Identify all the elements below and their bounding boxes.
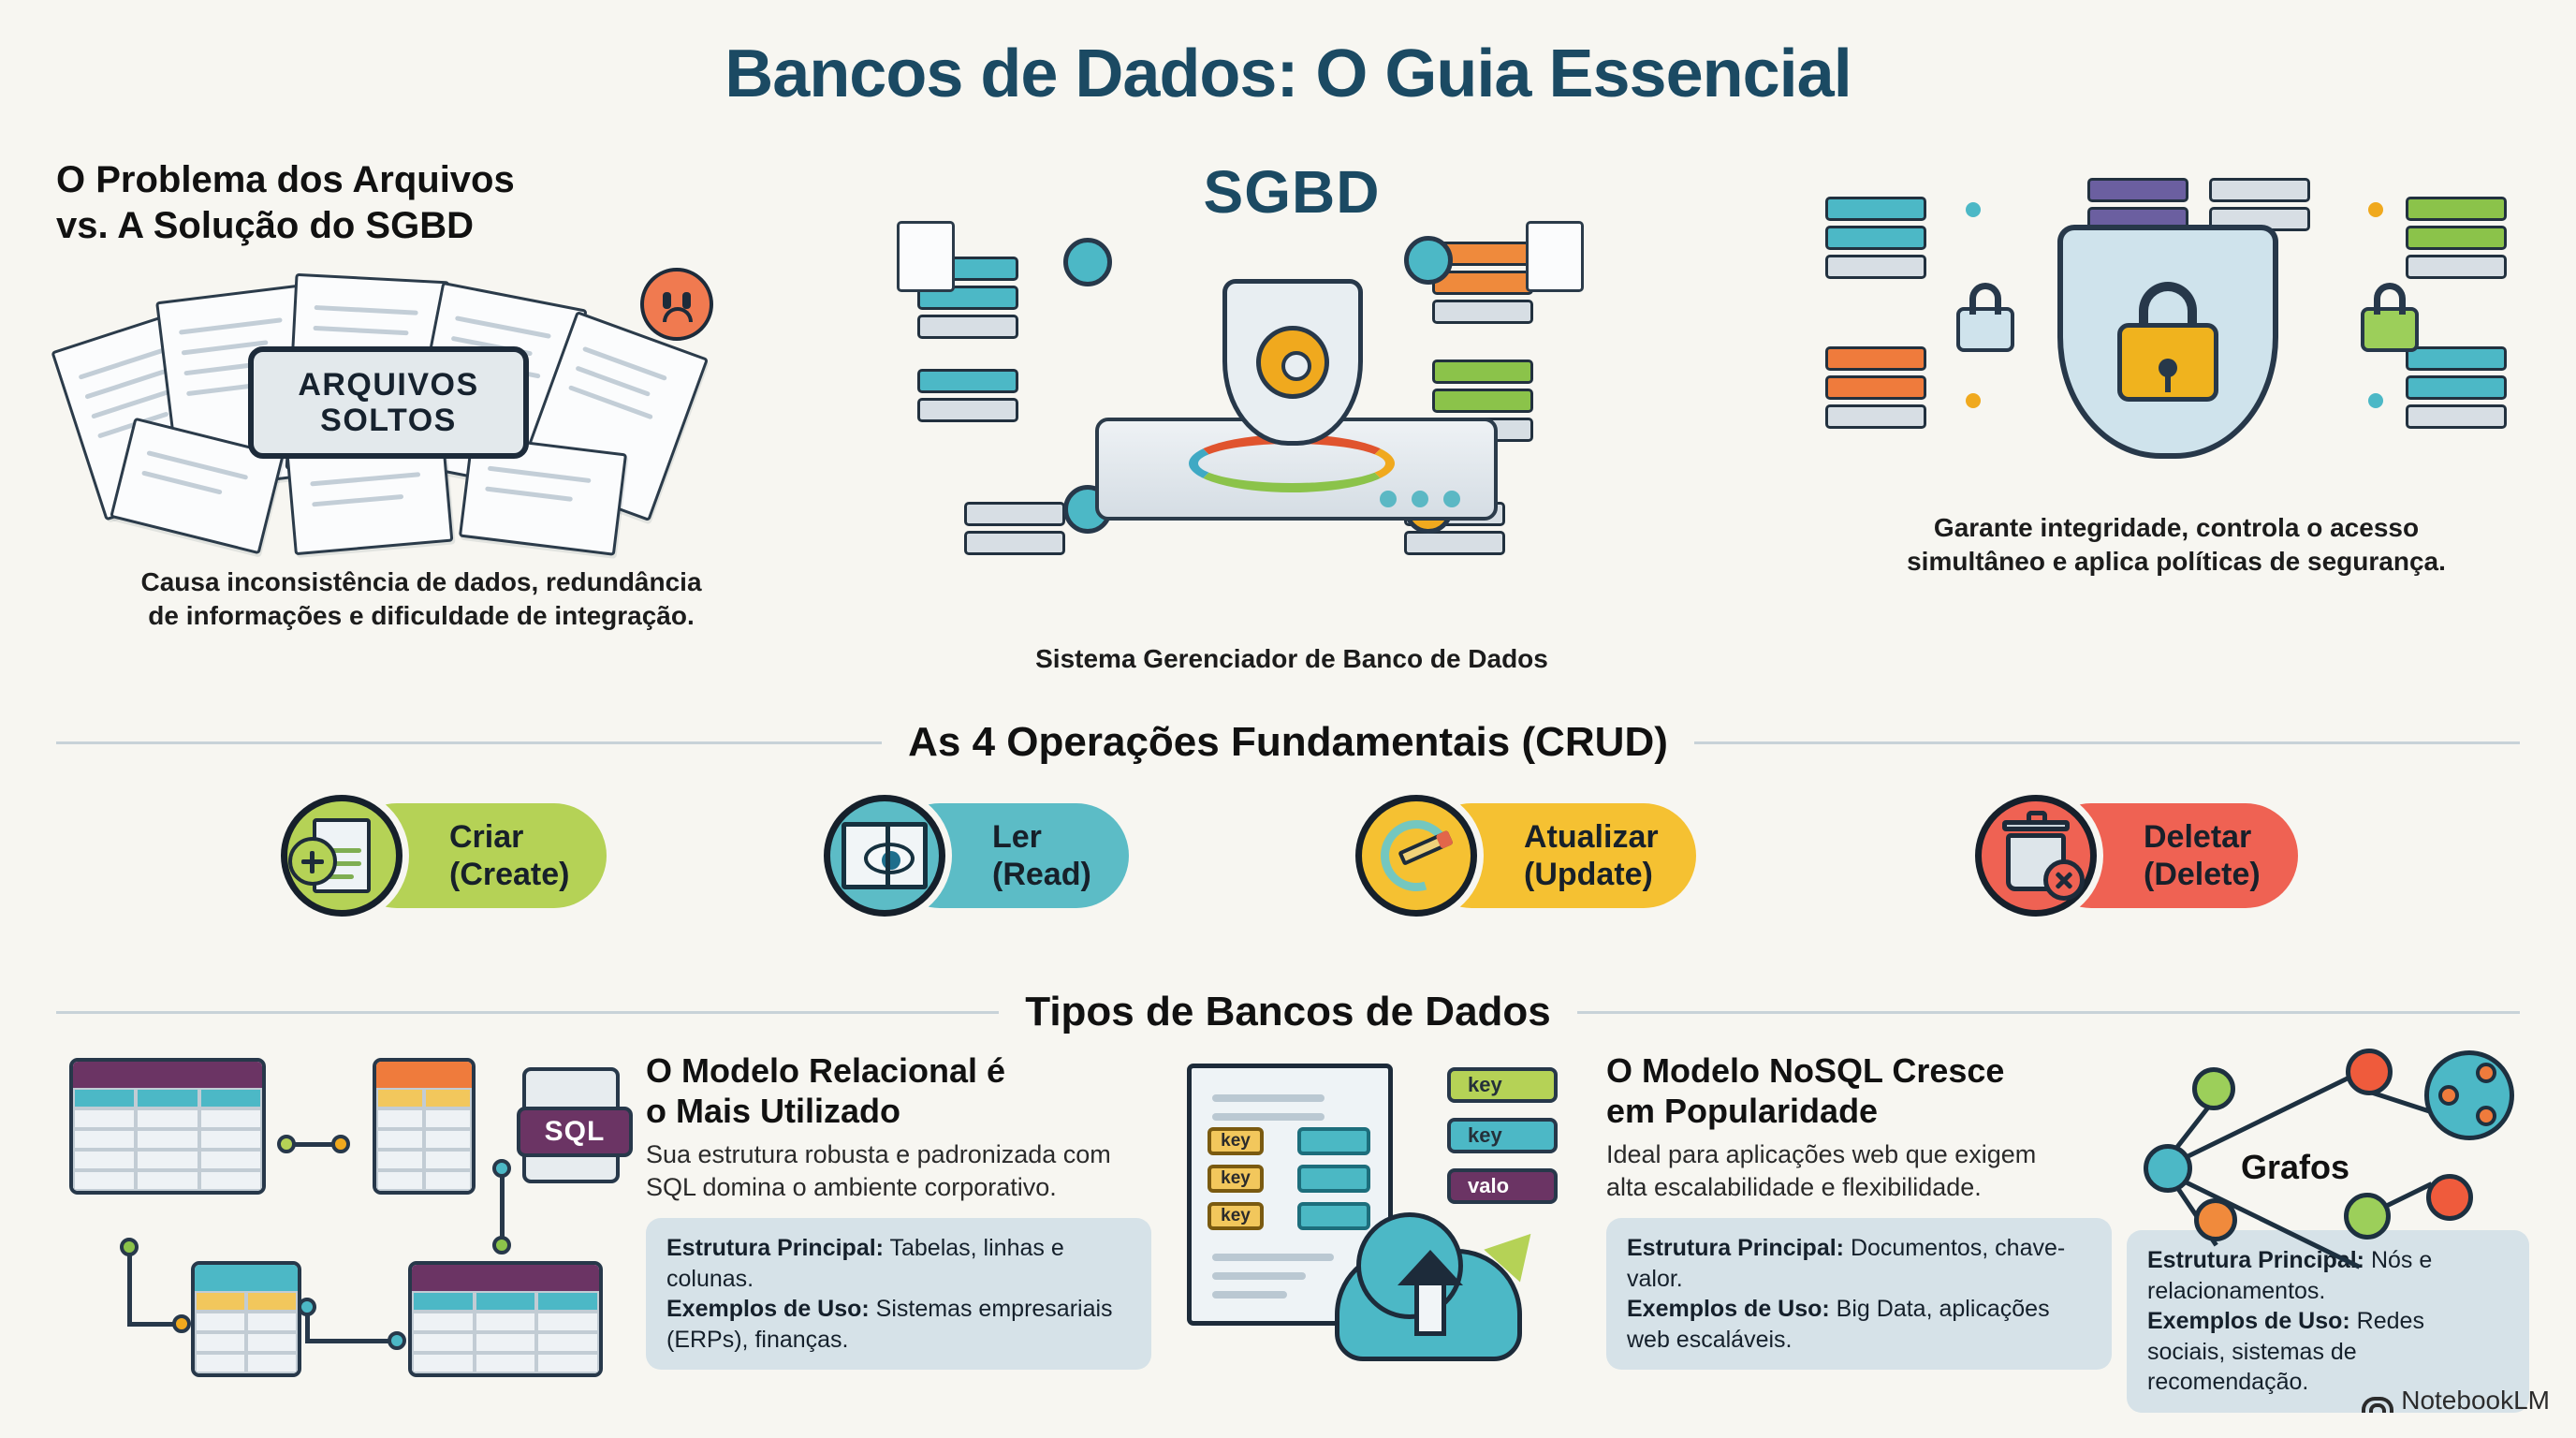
sql-badge: SQL bbox=[517, 1107, 633, 1157]
db-table bbox=[373, 1058, 476, 1195]
crud-item-create[interactable]: Criar (Create) bbox=[281, 785, 607, 927]
crud-label-en: (Delete) bbox=[2144, 857, 2261, 892]
server-stack bbox=[2406, 197, 2507, 284]
relational-subtext: Sua estrutura robusta e padronizada com … bbox=[646, 1138, 1151, 1203]
crud-label-pt: Criar bbox=[449, 819, 523, 855]
divider bbox=[56, 1011, 999, 1014]
crud-section-title: As 4 Operações Fundamentais (CRUD) bbox=[908, 719, 1668, 766]
nosql-illustration: key key key key key valo bbox=[1178, 1050, 1599, 1406]
nosql-structure: Estrutura Principal: Documentos, chave-v… bbox=[1627, 1233, 2091, 1294]
relation-dot bbox=[492, 1236, 511, 1255]
infographic-page: Bancos de Dados: O Guia Essencial O Prob… bbox=[0, 0, 2576, 1438]
watermark-label: NotebookLM bbox=[2401, 1386, 2550, 1416]
server-stack bbox=[964, 502, 1065, 560]
graph-node-orange bbox=[2194, 1198, 2237, 1241]
refresh-pencil-icon bbox=[1368, 808, 1465, 904]
relational-examples: Exemplos de Uso: Sistemas empresariais (… bbox=[666, 1294, 1131, 1355]
relation-link bbox=[500, 1167, 505, 1243]
panel-security-caption: Garante integridade, controla o acesso s… bbox=[1807, 511, 2546, 580]
relation-dot bbox=[277, 1135, 296, 1153]
panel-sgbd-caption: Sistema Gerenciador de Banco de Dados bbox=[880, 642, 1704, 676]
panel-problem-heading: O Problema dos Arquivos vs. A Solução do… bbox=[56, 157, 786, 249]
db-table bbox=[69, 1058, 266, 1195]
value-chip bbox=[1297, 1127, 1370, 1155]
crud-row: Criar (Create) Ler (Read) bbox=[0, 785, 2576, 934]
divider bbox=[56, 741, 882, 744]
network-node bbox=[1966, 202, 1981, 217]
notebooklm-logo-icon bbox=[2358, 1388, 2390, 1413]
graph-column: Grafos Estrutura Principal: Nós e relaci… bbox=[2127, 1050, 2529, 1413]
graph-node-green bbox=[2192, 1067, 2235, 1110]
nosql-infobox: Estrutura Principal: Documentos, chave-v… bbox=[1606, 1218, 2112, 1370]
sql-file-icon: SQL bbox=[522, 1067, 620, 1183]
relational-text: O Modelo Relacional é o Mais Utilizado S… bbox=[646, 1050, 1151, 1370]
graph-illustration: Grafos bbox=[2127, 1050, 2529, 1219]
legend-key-green: key bbox=[1447, 1067, 1558, 1103]
panel-problem-caption: Causa inconsistência de dados, redundânc… bbox=[56, 565, 786, 634]
legend-key-teal: key bbox=[1447, 1118, 1558, 1153]
divider bbox=[1694, 741, 2520, 744]
panel-sgbd: SGBD bbox=[880, 157, 1704, 676]
crud-item-update[interactable]: Atualizar (Update) bbox=[1355, 785, 1696, 927]
types-section-header: Tipos de Bancos de Dados bbox=[56, 989, 2520, 1035]
gear-icon bbox=[1063, 238, 1112, 286]
document-plus-icon bbox=[313, 818, 371, 893]
top-row: O Problema dos Arquivos vs. A Solução do… bbox=[0, 157, 2576, 700]
network-node bbox=[2368, 202, 2383, 217]
types-row: SQL O Modelo Relacional é bbox=[0, 1050, 2576, 1425]
relation-link bbox=[127, 1245, 132, 1326]
relation-dot bbox=[172, 1314, 191, 1333]
value-chip bbox=[1297, 1202, 1370, 1230]
panel-security: Garante integridade, controla o acesso s… bbox=[1807, 157, 2546, 580]
nosql-text: O Modelo NoSQL Cresce em Popularidade Id… bbox=[1606, 1050, 2112, 1370]
db-table bbox=[191, 1261, 301, 1377]
value-chip bbox=[1297, 1165, 1370, 1193]
page-title: Bancos de Dados: O Guia Essencial bbox=[0, 36, 2576, 112]
server-stack bbox=[1825, 346, 1926, 433]
padlock-icon bbox=[2361, 283, 2419, 352]
graph-examples: Exemplos de Uso: Redes sociais, sistemas… bbox=[2147, 1306, 2509, 1398]
graph-node-green bbox=[2344, 1193, 2391, 1240]
relational-infobox: Estrutura Principal: Tabelas, linhas e c… bbox=[646, 1218, 1151, 1370]
crud-section-header: As 4 Operações Fundamentais (CRUD) bbox=[56, 719, 2520, 766]
crud-label-en: (Create) bbox=[449, 857, 569, 892]
shield-icon bbox=[2057, 225, 2278, 459]
delete-icon-circle bbox=[1975, 795, 2097, 917]
types-section-title: Tipos de Bancos de Dados bbox=[1025, 989, 1551, 1035]
gear-icon bbox=[1256, 326, 1329, 399]
gear-icon bbox=[1404, 236, 1453, 285]
crud-item-read[interactable]: Ler (Read) bbox=[824, 785, 1129, 927]
document-chip bbox=[897, 221, 955, 292]
loose-files-illustration: ARQUIVOS SOLTOS bbox=[56, 260, 786, 560]
sgbd-illustration bbox=[880, 221, 1704, 614]
padlock-icon bbox=[2117, 282, 2218, 402]
graph-node-red bbox=[2346, 1049, 2393, 1095]
server-stack bbox=[2406, 346, 2507, 433]
nosql-subtext: Ideal para aplicações web que exigem alt… bbox=[1606, 1138, 2112, 1203]
key-chip: key bbox=[1207, 1202, 1264, 1230]
relational-structure: Estrutura Principal: Tabelas, linhas e c… bbox=[666, 1233, 1131, 1294]
cloud-upload-icon bbox=[1335, 1249, 1522, 1361]
relational-illustration: SQL bbox=[54, 1050, 635, 1406]
document-chip bbox=[1526, 221, 1584, 292]
trash-x-icon bbox=[2006, 820, 2066, 891]
graph-hub-node bbox=[2424, 1050, 2514, 1140]
relation-dot bbox=[298, 1298, 316, 1316]
relation-link bbox=[305, 1339, 397, 1343]
graph-label: Grafos bbox=[2241, 1148, 2349, 1187]
nosql-heading: O Modelo NoSQL Cresce em Popularidade bbox=[1606, 1050, 2112, 1131]
crud-label-en: (Read) bbox=[992, 857, 1091, 892]
graph-node-red bbox=[2426, 1174, 2473, 1221]
sad-face-icon bbox=[640, 268, 713, 341]
server-stack bbox=[1825, 197, 1926, 284]
update-icon-circle bbox=[1355, 795, 1477, 917]
divider bbox=[1577, 1011, 2520, 1014]
network-node bbox=[1966, 393, 1981, 408]
crud-item-delete[interactable]: Deletar (Delete) bbox=[1975, 785, 2298, 927]
relation-dot bbox=[492, 1159, 511, 1178]
key-chip: key bbox=[1207, 1127, 1264, 1155]
security-illustration bbox=[1807, 178, 2546, 487]
crud-label-pt: Atualizar bbox=[1524, 819, 1659, 855]
legend-value-purple: valo bbox=[1447, 1168, 1558, 1204]
relation-dot bbox=[331, 1135, 350, 1153]
notebooklm-watermark: NotebookLM bbox=[2358, 1386, 2550, 1416]
graph-node-teal bbox=[2144, 1144, 2192, 1193]
panel-problem-files: O Problema dos Arquivos vs. A Solução do… bbox=[56, 157, 786, 633]
crud-label-en: (Update) bbox=[1524, 857, 1653, 892]
shield-icon bbox=[1222, 279, 1363, 446]
sgbd-acronym: SGBD bbox=[880, 157, 1704, 227]
server-stack bbox=[917, 369, 1018, 427]
crud-label-pt: Ler bbox=[992, 819, 1042, 855]
relational-heading: O Modelo Relacional é o Mais Utilizado bbox=[646, 1050, 1151, 1131]
db-table bbox=[408, 1261, 603, 1377]
padlock-icon bbox=[1956, 283, 2014, 352]
key-chip: key bbox=[1207, 1165, 1264, 1193]
crud-label-pt: Deletar bbox=[2144, 819, 2251, 855]
network-node bbox=[2368, 393, 2383, 408]
relation-dot bbox=[120, 1238, 139, 1256]
create-icon-circle bbox=[281, 795, 402, 917]
read-icon-circle bbox=[824, 795, 945, 917]
relation-dot bbox=[388, 1331, 406, 1350]
loose-files-badge: ARQUIVOS SOLTOS bbox=[248, 346, 529, 459]
nosql-examples: Exemplos de Uso: Big Data, aplicações we… bbox=[1627, 1294, 2091, 1355]
book-eye-icon bbox=[842, 822, 928, 889]
